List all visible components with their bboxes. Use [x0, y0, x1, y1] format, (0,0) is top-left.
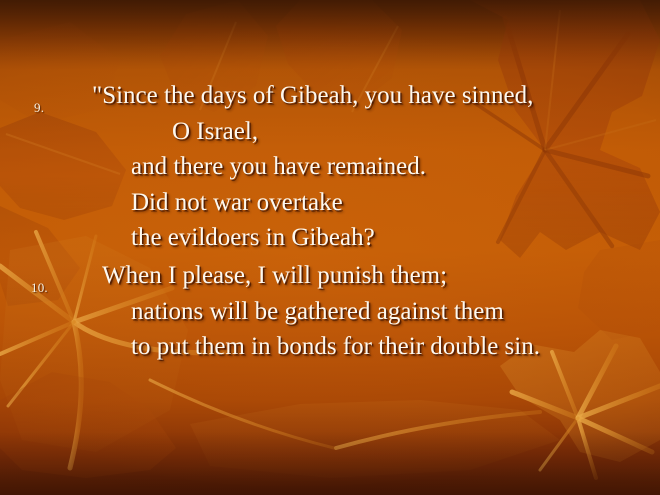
verse-line: the evildoers in Gibeah? — [0, 220, 660, 256]
verse-9-lines: "Since the days of Gibeah, you have sinn… — [0, 78, 660, 256]
verse-line: "Since the days of Gibeah, you have sinn… — [0, 78, 660, 114]
verse-line: to put them in bonds for their double si… — [0, 329, 660, 365]
verse-line: When I please, I will punish them; — [0, 258, 660, 294]
stanza-verse-10: 10. When I please, I will punish them; n… — [0, 258, 660, 365]
presentation-slide: 9. "Since the days of Gibeah, you have s… — [0, 0, 660, 495]
verse-10-lines: When I please, I will punish them; natio… — [0, 258, 660, 365]
verse-line: O Israel, — [0, 114, 660, 150]
verse-number-9: 9. — [34, 100, 44, 116]
verse-line: and there you have remained. — [0, 149, 660, 185]
verse-line: Did not war overtake — [0, 185, 660, 221]
verse-number-10: 10. — [31, 280, 48, 296]
verse-line: nations will be gathered against them — [0, 294, 660, 330]
stanza-verse-9: 9. "Since the days of Gibeah, you have s… — [0, 78, 660, 256]
slide-content: 9. "Since the days of Gibeah, you have s… — [0, 0, 660, 495]
